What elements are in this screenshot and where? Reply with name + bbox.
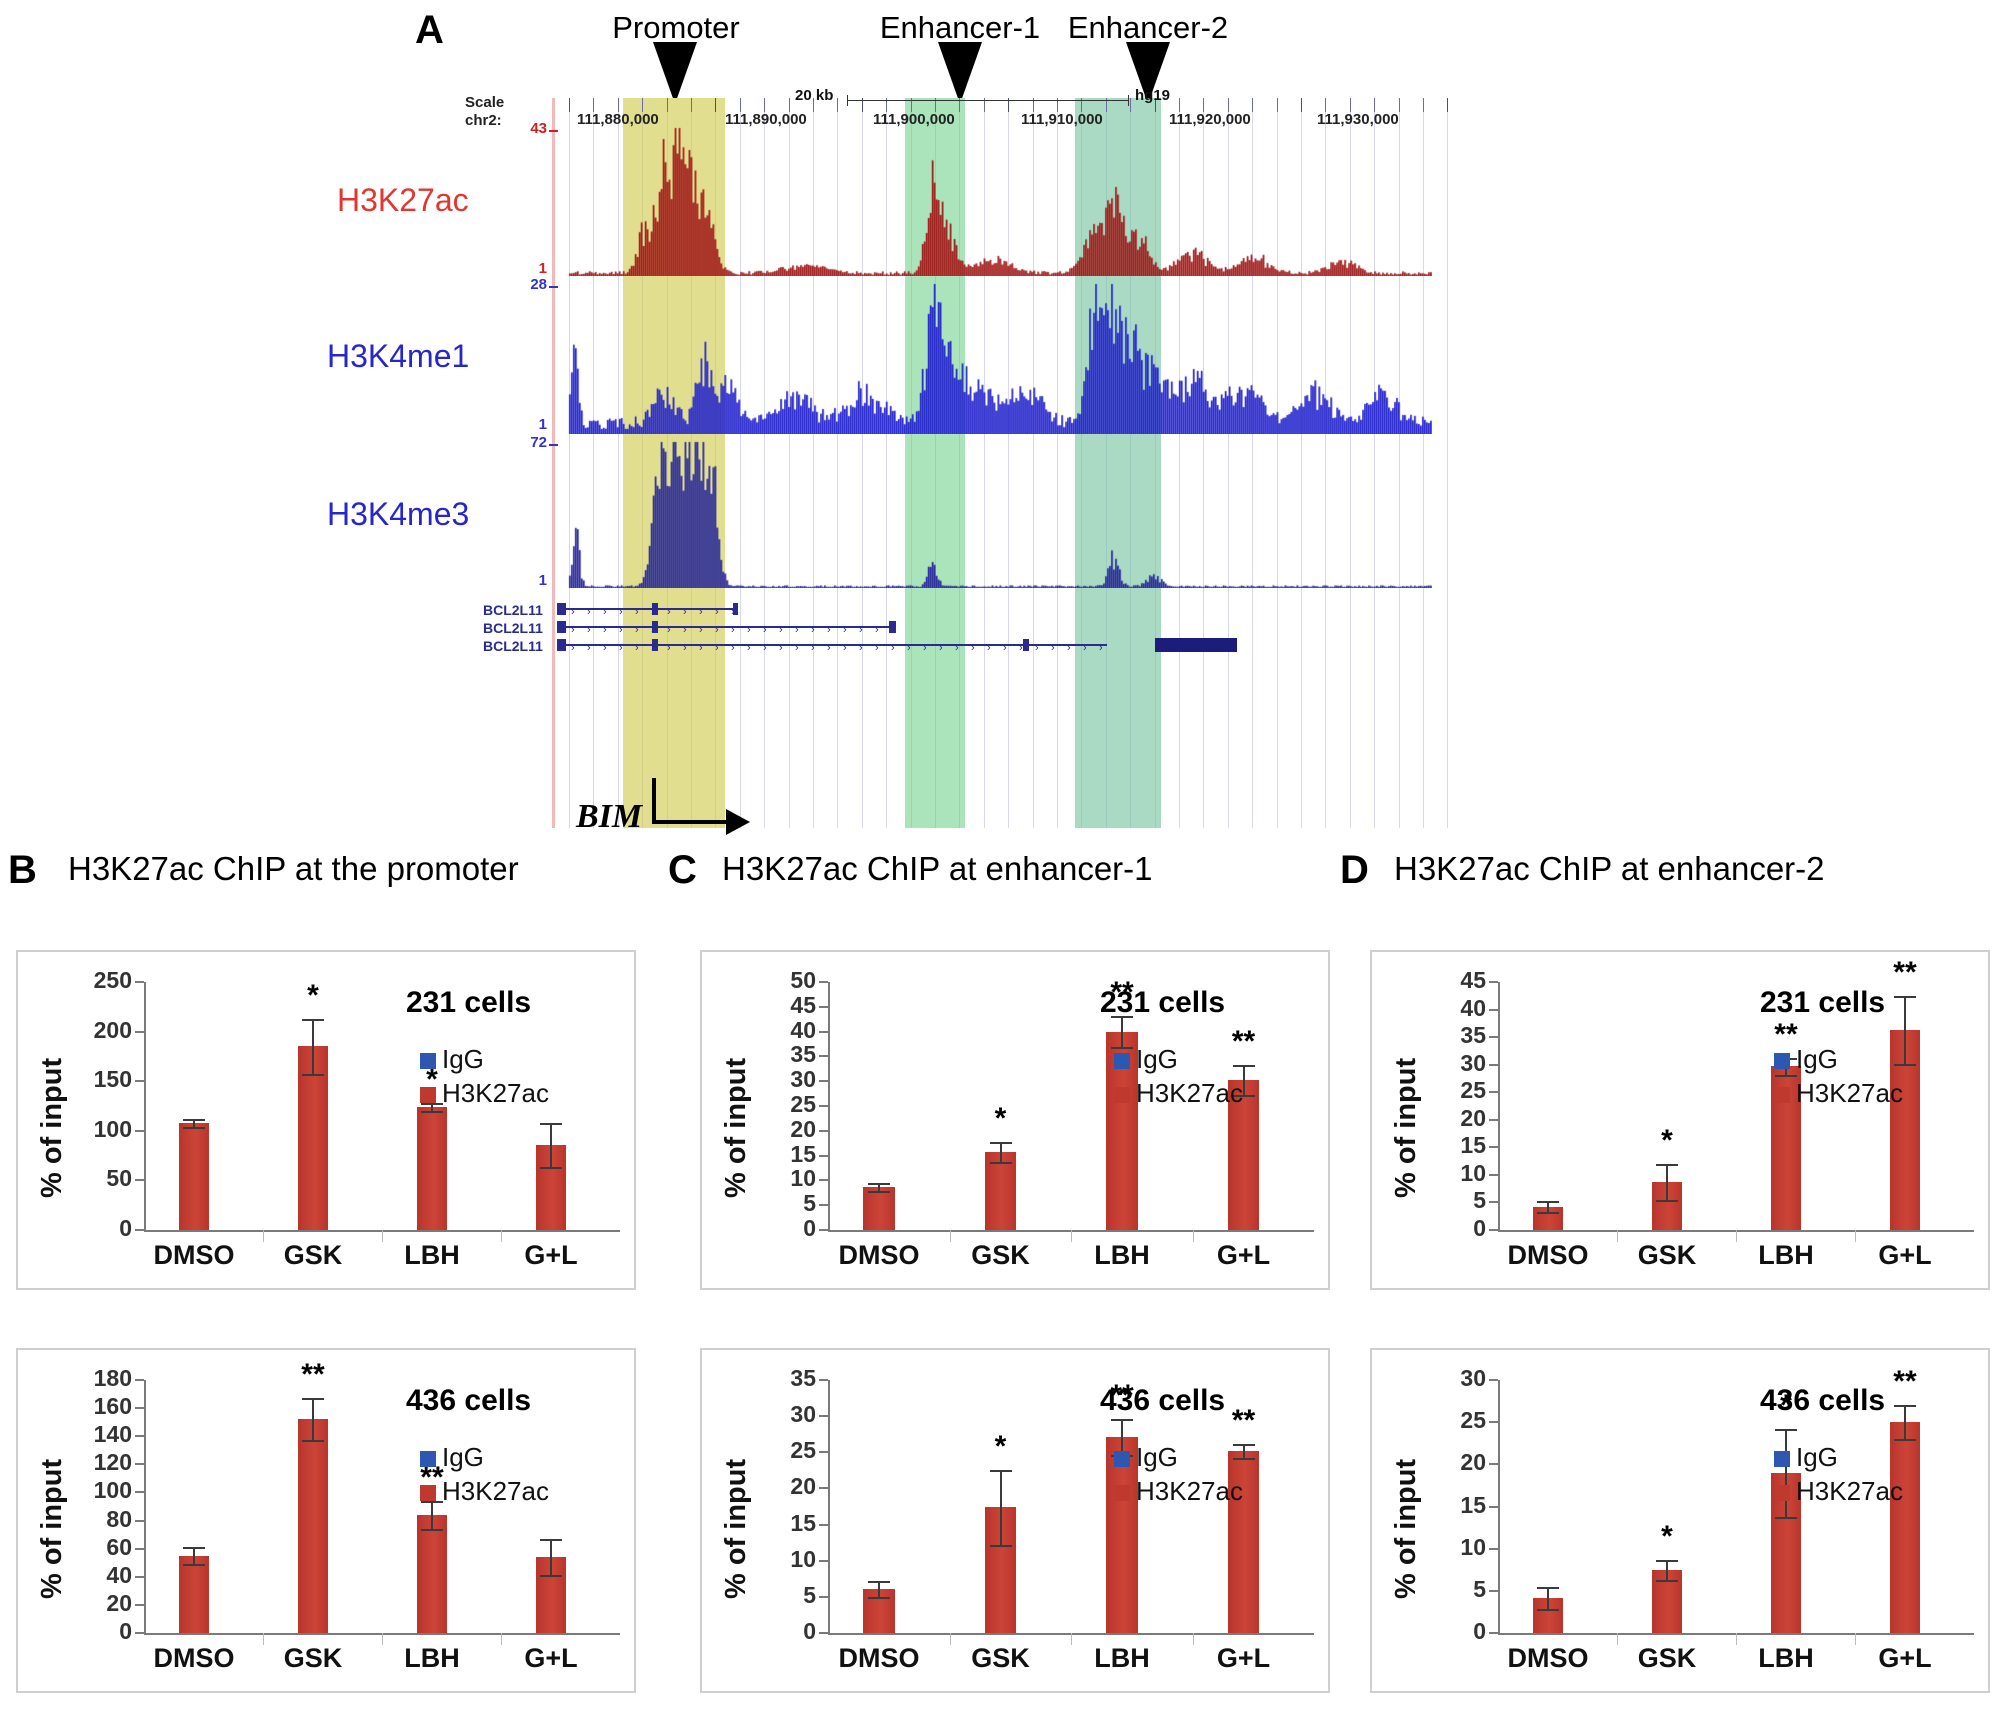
ruler-tick — [1203, 98, 1204, 112]
error-cap-top-DMSO — [183, 1547, 205, 1549]
y-tick-label-5: 25 — [744, 1091, 816, 1118]
gene-strand-chevron: › — [603, 626, 607, 634]
y-tick-label-1: 5 — [744, 1190, 816, 1217]
gene-strand-chevron: › — [651, 626, 655, 634]
gene-exon — [1023, 639, 1029, 651]
y-tick — [135, 1130, 144, 1132]
y-tick — [135, 1080, 144, 1082]
y-tick — [135, 1576, 144, 1578]
ruler-tick — [1423, 98, 1424, 112]
bar-h3k27ac-DMSO — [863, 1187, 895, 1230]
ruler-tick — [740, 98, 741, 112]
y-tick — [1489, 1229, 1498, 1231]
error-bar-G+L — [550, 1539, 552, 1576]
ruler-tick — [691, 98, 692, 112]
y-axis — [828, 982, 830, 1230]
ruler-tick — [1301, 98, 1302, 112]
y-tick — [135, 1435, 144, 1437]
ruler-tick — [1179, 98, 1180, 112]
y-tick-label-10: 50 — [744, 967, 816, 994]
legend-label-h3k27ac: H3K27ac — [1136, 1476, 1243, 1507]
gene-intron-line — [557, 608, 737, 610]
track-h3k4me3-min: 1 — [511, 572, 547, 589]
gene-strand-chevron: › — [635, 608, 639, 616]
legend-label-h3k27ac: H3K27ac — [442, 1078, 549, 1109]
y-tick-label-1: 20 — [60, 1590, 132, 1617]
gene-strand-chevron: › — [939, 644, 943, 652]
y-tick-label-0: 0 — [60, 1215, 132, 1242]
gene-strand-chevron: › — [859, 626, 863, 634]
cell-line-label: 436 cells — [1760, 1384, 1885, 1418]
error-bar-DMSO — [193, 1547, 195, 1564]
y-tick-label-0: 0 — [1414, 1618, 1486, 1645]
gene-strand-chevron: › — [619, 626, 623, 634]
bar-h3k27ac-DMSO — [179, 1123, 210, 1230]
error-cap-top-G+L — [1233, 1065, 1255, 1067]
chromosome-label: chr2: — [465, 112, 502, 129]
error-cap-bottom-DMSO — [183, 1564, 205, 1566]
legend-swatch-h3k27ac — [1114, 1485, 1130, 1501]
gene-strand-chevron: › — [683, 626, 687, 634]
y-tick-label-1: 5 — [1414, 1187, 1486, 1214]
legend-swatch-igg — [420, 1451, 436, 1467]
gene-strand-chevron: › — [843, 626, 847, 634]
error-cap-bottom-GSK — [1656, 1200, 1678, 1202]
ruler-tick — [1252, 98, 1253, 112]
scale-label: Scale — [465, 94, 504, 111]
panel-letter-b: B — [8, 848, 37, 893]
error-cap-top-LBH — [421, 1103, 443, 1105]
y-tick-label-4: 20 — [1414, 1105, 1486, 1132]
y-tick — [135, 1031, 144, 1033]
error-cap-top-LBH — [1111, 1419, 1133, 1421]
gene-strand-chevron: › — [1083, 644, 1087, 652]
y-axis-label: % of input — [1390, 1458, 1423, 1598]
ruler-tick — [1228, 98, 1229, 112]
gene-strand-chevron: › — [827, 644, 831, 652]
gene-strand-chevron: › — [1051, 644, 1055, 652]
y-tick — [135, 1229, 144, 1231]
y-tick — [1489, 1174, 1498, 1176]
error-cap-bottom-DMSO — [183, 1127, 205, 1129]
x-tick-label-G+L: G+L — [1174, 1643, 1314, 1674]
gene-label-1: BCL2L11 — [483, 620, 543, 636]
y-tick-label-2: 100 — [60, 1116, 132, 1143]
y-tick — [1489, 1548, 1498, 1550]
gene-strand-chevron: › — [779, 644, 783, 652]
bar-h3k27ac-G+L — [1890, 1422, 1921, 1633]
x-tick-label-LBH: LBH — [1052, 1643, 1192, 1674]
legend-label-h3k27ac: H3K27ac — [1796, 1078, 1903, 1109]
gene-strand-chevron: › — [619, 608, 623, 616]
y-tick — [135, 1379, 144, 1381]
legend-swatch-igg — [1774, 1451, 1790, 1467]
legend-label-igg: IgG — [1136, 1442, 1178, 1473]
gene-strand-chevron: › — [667, 626, 671, 634]
y-tick-label-6: 30 — [1414, 1365, 1486, 1392]
error-cap-bottom-DMSO — [1537, 1609, 1559, 1611]
x-tick-label-G+L: G+L — [481, 1240, 621, 1271]
error-cap-bottom-DMSO — [868, 1597, 890, 1599]
cell-line-label: 231 cells — [1100, 986, 1225, 1020]
x-tick-label-DMSO: DMSO — [809, 1643, 949, 1674]
y-tick — [819, 1560, 828, 1562]
y-tick-label-4: 200 — [60, 1017, 132, 1044]
error-cap-top-G+L — [540, 1123, 562, 1125]
y-tick-label-5: 25 — [1414, 1077, 1486, 1104]
ruler-tick — [593, 98, 594, 112]
ruler-tick — [789, 98, 790, 112]
legend-swatch-h3k27ac — [1114, 1087, 1130, 1103]
gene-strand-chevron: › — [587, 626, 591, 634]
y-tick — [135, 1632, 144, 1634]
y-tick — [1489, 1009, 1498, 1011]
y-tick-label-6: 30 — [744, 1066, 816, 1093]
gene-exon — [557, 603, 566, 615]
gene-strand-chevron: › — [907, 644, 911, 652]
y-tick-label-2: 10 — [744, 1165, 816, 1192]
error-cap-bottom-G+L — [540, 1575, 562, 1577]
error-cap-bottom-DMSO — [868, 1191, 890, 1193]
gene-strand-chevron: › — [891, 644, 895, 652]
track-h3k27ac-min: 1 — [511, 260, 547, 277]
gene-strand-chevron: › — [955, 644, 959, 652]
error-cap-top-GSK — [1656, 1560, 1678, 1562]
ruler-tick — [1130, 98, 1131, 112]
error-bar-LBH — [431, 1501, 433, 1529]
ruler-tick — [1374, 98, 1375, 112]
gene-strand-chevron: › — [747, 626, 751, 634]
chart-d-231-cells: 051015202530354045% of inputDMSO*GSK**LB… — [1370, 950, 1990, 1290]
ruler-tick — [569, 98, 570, 112]
y-tick-label-2: 10 — [744, 1546, 816, 1573]
significance-marker-G+L: ** — [1204, 1025, 1284, 1059]
y-tick-label-7: 35 — [1414, 1022, 1486, 1049]
gene-symbol-bim: BIM — [576, 798, 642, 836]
error-cap-top-GSK — [990, 1142, 1012, 1144]
cell-line-label: 231 cells — [1760, 986, 1885, 1020]
bar-h3k27ac-DMSO — [179, 1556, 210, 1633]
scale-bar — [847, 100, 1129, 101]
gene-strand-chevron: › — [779, 626, 783, 634]
gene-strand-chevron: › — [619, 644, 623, 652]
y-tick-label-4: 20 — [744, 1473, 816, 1500]
y-tick-label-2: 10 — [1414, 1534, 1486, 1561]
gene-strand-chevron: › — [875, 644, 879, 652]
gene-strand-chevron: › — [715, 608, 719, 616]
legend-label-igg: IgG — [1796, 1044, 1838, 1075]
error-cap-bottom-G+L — [1233, 1458, 1255, 1460]
gene-strand-chevron: › — [971, 644, 975, 652]
gene-strand-chevron: › — [635, 626, 639, 634]
gene-cds-block — [1155, 638, 1237, 652]
y-tick — [819, 1031, 828, 1033]
legend-swatch-h3k27ac — [420, 1485, 436, 1501]
chart-b-436-cells: 020406080100120140160180% of inputDMSO**… — [16, 1348, 636, 1693]
x-tick-label-G+L: G+L — [1174, 1240, 1314, 1271]
annotation-label-promoter: Promoter — [566, 10, 786, 46]
error-bar-GSK — [1000, 1142, 1002, 1162]
error-bar-GSK — [312, 1398, 314, 1440]
track-h3k27ac-max-tick — [549, 130, 558, 132]
significance-marker-GSK: * — [1627, 1520, 1707, 1554]
significance-marker-GSK: * — [273, 979, 353, 1013]
gene-strand-chevron: › — [763, 626, 767, 634]
legend-label-igg: IgG — [1796, 1442, 1838, 1473]
legend-swatch-igg — [420, 1053, 436, 1069]
error-bar-LBH — [1121, 1016, 1123, 1048]
track-name-h3k4me1: H3K4me1 — [327, 338, 469, 375]
y-tick — [819, 1451, 828, 1453]
track-h3k4me1-max-tick — [549, 286, 558, 288]
gene-label-0: BCL2L11 — [483, 602, 543, 618]
gene-strand-chevron: › — [875, 626, 879, 634]
y-tick — [819, 1155, 828, 1157]
error-cap-top-DMSO — [868, 1581, 890, 1583]
error-bar-GSK — [1666, 1164, 1668, 1199]
y-tick-label-5: 25 — [1414, 1407, 1486, 1434]
ruler-tick — [1399, 98, 1400, 112]
gene-strand-chevron: › — [763, 644, 767, 652]
error-cap-bottom-DMSO — [1537, 1212, 1559, 1214]
y-tick-label-7: 35 — [744, 1365, 816, 1392]
ruler-tick — [837, 98, 838, 112]
gene-strand-chevron: › — [795, 644, 799, 652]
y-tick — [1489, 1146, 1498, 1148]
gene-strand-chevron: › — [811, 626, 815, 634]
y-tick — [135, 1463, 144, 1465]
y-tick-label-2: 40 — [60, 1562, 132, 1589]
error-cap-top-DMSO — [1537, 1201, 1559, 1203]
track-h3k4me1 — [555, 282, 1432, 434]
significance-marker-G+L: ** — [1865, 956, 1945, 990]
gene-strand-chevron: › — [1099, 644, 1103, 652]
error-bar-DMSO — [878, 1581, 880, 1597]
gene-strand-chevron: › — [731, 608, 735, 616]
ruler-tick — [715, 98, 716, 112]
gene-strand-chevron: › — [699, 626, 703, 634]
ruler-tick — [764, 98, 765, 112]
ruler-tick — [1350, 98, 1351, 112]
panel-letter-d: D — [1340, 848, 1369, 893]
error-cap-top-GSK — [1656, 1164, 1678, 1166]
y-tick — [1489, 1463, 1498, 1465]
gene-strand-chevron: › — [651, 644, 655, 652]
gene-strand-chevron: › — [859, 644, 863, 652]
significance-marker-GSK: ** — [273, 1358, 353, 1392]
legend-label-igg: IgG — [442, 1044, 484, 1075]
error-cap-top-DMSO — [183, 1119, 205, 1121]
gene-strand-chevron: › — [683, 644, 687, 652]
y-tick-label-6: 30 — [744, 1401, 816, 1428]
track-h3k4me3-max: 72 — [511, 434, 547, 451]
legend-swatch-igg — [1114, 1451, 1130, 1467]
gene-strand-chevron: › — [987, 644, 991, 652]
y-tick-label-3: 15 — [1414, 1492, 1486, 1519]
bar-h3k27ac-LBH — [417, 1107, 448, 1230]
ruler-tick — [1447, 98, 1448, 112]
y-tick-label-9: 180 — [60, 1365, 132, 1392]
y-axis — [1498, 1380, 1500, 1633]
y-tick-label-3: 15 — [744, 1141, 816, 1168]
chart-c-436-cells: 05101520253035% of inputDMSO*GSK**LBH**G… — [700, 1348, 1330, 1693]
error-cap-top-G+L — [1894, 996, 1916, 998]
y-tick — [819, 1006, 828, 1008]
error-cap-bottom-G+L — [540, 1167, 562, 1169]
error-cap-top-DMSO — [1537, 1587, 1559, 1589]
significance-marker-GSK: * — [961, 1102, 1041, 1136]
y-tick — [819, 1596, 828, 1598]
y-tick — [819, 1080, 828, 1082]
y-tick — [819, 1130, 828, 1132]
significance-marker-GSK: * — [1627, 1124, 1707, 1158]
scale-bar-label: 20 kb — [795, 87, 833, 104]
track-h3k4me1-min: 1 — [511, 416, 547, 433]
y-tick-label-4: 20 — [1414, 1449, 1486, 1476]
y-tick-label-9: 45 — [744, 992, 816, 1019]
x-tick-label-G+L: G+L — [1835, 1643, 1975, 1674]
gene-strand-chevron: › — [571, 644, 575, 652]
y-tick — [135, 981, 144, 983]
error-bar-GSK — [1666, 1560, 1668, 1580]
gene-strand-chevron: › — [699, 608, 703, 616]
significance-marker-GSK: * — [961, 1430, 1041, 1464]
gene-strand-chevron: › — [747, 644, 751, 652]
panel-b-title: H3K27ac ChIP at the promoter — [68, 850, 519, 888]
genome-browser-viewport: Scale chr2: 111,880,000 111,890,000 111,… — [552, 98, 1432, 828]
gene-strand-chevron: › — [811, 644, 815, 652]
assembly-label: hg19 — [1135, 87, 1170, 104]
gene-strand-chevron: › — [603, 644, 607, 652]
error-bar-DMSO — [1547, 1587, 1549, 1609]
error-cap-bottom-LBH — [421, 1529, 443, 1531]
error-cap-top-GSK — [302, 1019, 324, 1021]
arrow-down-icon-enhancer-1 — [938, 42, 982, 104]
error-bar-G+L — [550, 1123, 552, 1167]
y-tick-label-3: 15 — [1414, 1132, 1486, 1159]
panel-d-title: H3K27ac ChIP at enhancer-2 — [1394, 850, 1825, 888]
error-cap-bottom-GSK — [1656, 1580, 1678, 1582]
y-tick-label-4: 20 — [744, 1116, 816, 1143]
x-tick-label-GSK: GSK — [931, 1643, 1071, 1674]
gene-strand-chevron: › — [667, 644, 671, 652]
track-h3k4me3 — [555, 440, 1432, 588]
y-tick — [819, 981, 828, 983]
track-name-h3k4me3: H3K4me3 — [327, 496, 469, 533]
error-bar-G+L — [1904, 1405, 1906, 1439]
gene-strand-chevron: › — [571, 608, 575, 616]
legend-swatch-h3k27ac — [420, 1087, 436, 1103]
x-tick-label-G+L: G+L — [481, 1643, 621, 1674]
y-tick-label-6: 120 — [60, 1449, 132, 1476]
error-cap-bottom-GSK — [990, 1162, 1012, 1164]
y-tick — [1489, 1036, 1498, 1038]
legend-label-h3k27ac: H3K27ac — [442, 1476, 549, 1507]
y-tick — [1489, 1590, 1498, 1592]
y-tick — [135, 1407, 144, 1409]
legend-swatch-igg — [1114, 1053, 1130, 1069]
gene-strand-chevron: › — [891, 626, 895, 634]
y-tick-label-3: 15 — [744, 1510, 816, 1537]
gene-strand-chevron: › — [795, 626, 799, 634]
track-h3k4me3-max-tick — [549, 444, 558, 446]
gene-strand-chevron: › — [1003, 644, 1007, 652]
gene-strand-chevron: › — [587, 644, 591, 652]
panel-letter-c: C — [668, 848, 697, 893]
cell-line-label: 436 cells — [406, 1384, 531, 1418]
y-tick — [819, 1415, 828, 1417]
y-tick-label-9: 45 — [1414, 967, 1486, 994]
track-h3k27ac-max: 43 — [511, 120, 547, 137]
gene-strand-chevron: › — [1019, 644, 1023, 652]
gene-strand-chevron: › — [651, 608, 655, 616]
y-tick — [819, 1204, 828, 1206]
arrow-down-icon-promoter — [653, 42, 697, 104]
y-tick — [135, 1548, 144, 1550]
browser-gridline — [1447, 98, 1448, 828]
y-axis — [828, 1380, 830, 1633]
gene-exon — [557, 621, 566, 633]
track-h3k27ac — [555, 126, 1432, 276]
error-bar-GSK — [312, 1019, 314, 1075]
bar-h3k27ac-LBH — [417, 1515, 448, 1633]
gene-strand-chevron: › — [587, 608, 591, 616]
gene-strand-chevron: › — [715, 644, 719, 652]
y-tick — [1489, 1379, 1498, 1381]
y-tick — [135, 1604, 144, 1606]
ruler-tick — [1277, 98, 1278, 112]
y-axis-label: % of input — [36, 1458, 69, 1598]
error-bar-LBH — [1785, 1429, 1787, 1517]
legend-label-h3k27ac: H3K27ac — [1136, 1078, 1243, 1109]
y-axis-label: % of input — [36, 1058, 69, 1198]
error-cap-bottom-GSK — [302, 1074, 324, 1076]
gene-strand-chevron: › — [731, 626, 735, 634]
y-tick — [1489, 1091, 1498, 1093]
legend-label-igg: IgG — [1136, 1044, 1178, 1075]
chart-b-231-cells: 050100150200250% of inputDMSO*GSK*LBHG+L… — [16, 950, 636, 1290]
gene-strand-chevron: › — [667, 608, 671, 616]
error-cap-bottom-LBH — [1111, 1047, 1133, 1049]
gene-strand-chevron: › — [603, 608, 607, 616]
y-tick — [1489, 1421, 1498, 1423]
error-cap-top-LBH — [421, 1501, 443, 1503]
ruler-tick — [642, 98, 643, 112]
y-tick — [819, 1632, 828, 1634]
y-tick — [819, 1524, 828, 1526]
y-axis-label: % of input — [720, 1058, 753, 1198]
annotation-label-enhancer-2: Enhancer-2 — [1028, 10, 1268, 46]
gene-strand-chevron: › — [731, 644, 735, 652]
y-tick — [1489, 1632, 1498, 1634]
track-h3k4me1-max: 28 — [511, 276, 547, 293]
y-tick-label-5: 250 — [60, 967, 132, 994]
y-tick — [819, 1379, 828, 1381]
y-axis — [144, 1380, 146, 1633]
chart-c-231-cells: 05101520253035404550% of inputDMSO*GSK**… — [700, 950, 1330, 1290]
panel-a-genome-browser: A Promoter Enhancer-1 Enhancer-2 Scale c… — [0, 0, 2008, 880]
legend-label-h3k27ac: H3K27ac — [1796, 1476, 1903, 1507]
error-cap-bottom-GSK — [302, 1440, 324, 1442]
gene-strand-chevron: › — [843, 644, 847, 652]
panel-letter-a: A — [415, 8, 444, 53]
gene-strand-chevron: › — [715, 626, 719, 634]
error-bar-LBH — [1121, 1419, 1123, 1455]
x-tick-label-LBH: LBH — [1052, 1240, 1192, 1271]
ruler-tick — [618, 98, 619, 112]
error-bar-G+L — [1904, 996, 1906, 1064]
error-cap-bottom-LBH — [1775, 1517, 1797, 1519]
